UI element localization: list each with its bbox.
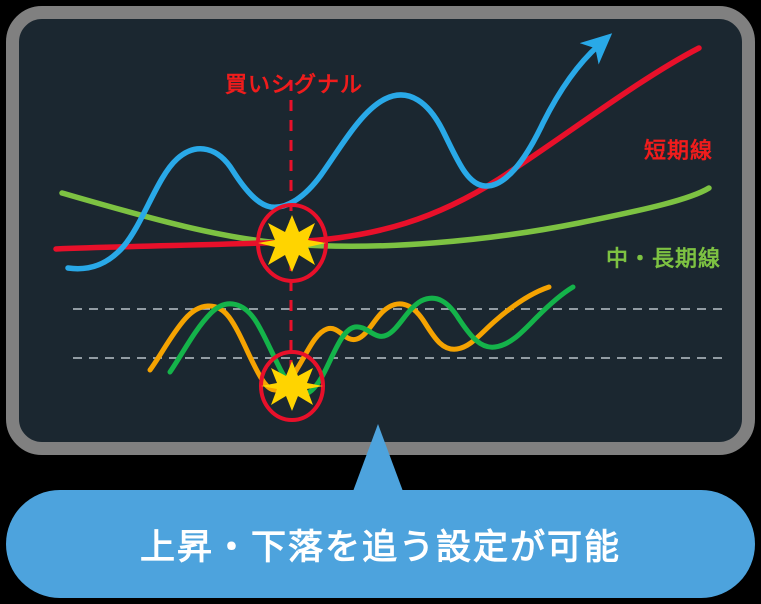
callout-banner-text: 上昇・下落を追う設定が可能: [140, 519, 621, 570]
chart-panel-inner: 買いシグナル 短期線 中・長期線: [19, 19, 742, 442]
oscillator-slow-line: [170, 287, 573, 394]
screenshot-root: 買いシグナル 短期線 中・長期線 上昇・下落を追う設定が可能: [0, 0, 761, 604]
banner-pointer-triangle: [352, 424, 404, 494]
callout-banner: 上昇・下落を追う設定が可能: [6, 490, 755, 598]
short-term-line-label: 短期線: [644, 133, 713, 165]
starburst-icon: [258, 215, 326, 272]
starburst-icon: [261, 361, 323, 411]
chart-panel: 買いシグナル 短期線 中・長期線: [6, 6, 755, 455]
oscillator-fast-line: [150, 287, 549, 390]
chart-graphic: [19, 19, 742, 442]
cross-marker-lower: [261, 352, 323, 420]
cross-marker-upper: [258, 205, 326, 281]
mid-long-term-ma-line: [62, 188, 709, 246]
buy-signal-label: 買いシグナル: [225, 67, 363, 99]
mid-long-term-line-label: 中・長期線: [606, 241, 721, 273]
